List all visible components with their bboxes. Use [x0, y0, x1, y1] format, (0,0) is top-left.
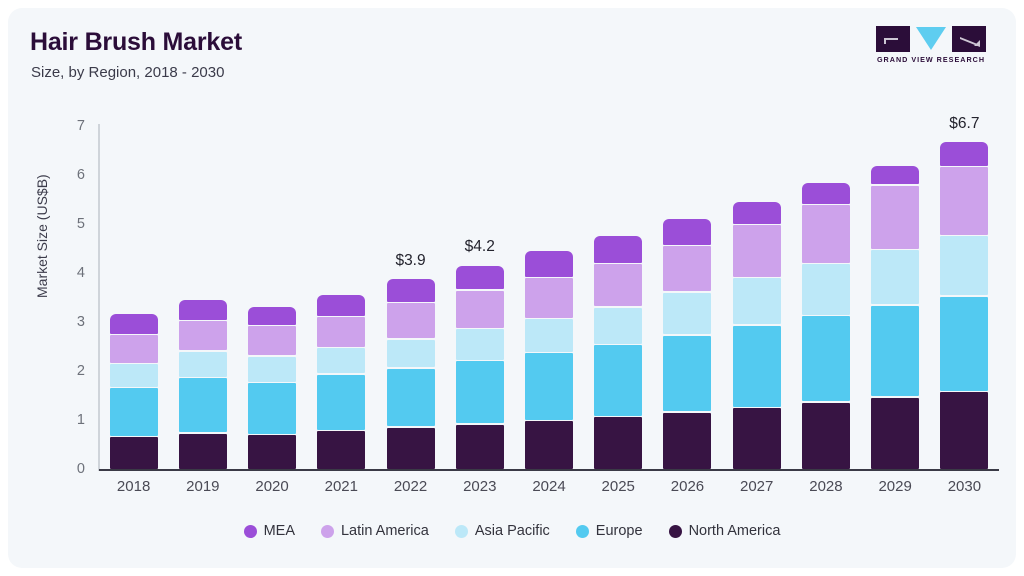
legend-item-label: MEA [264, 523, 295, 539]
bar-segment[interactable] [110, 437, 158, 469]
bar-segment[interactable] [248, 307, 296, 325]
chart-header: Hair Brush Market Size, by Region, 2018 … [8, 8, 1016, 104]
bar-value-label: $3.9 [395, 252, 425, 270]
legend-item-label: Latin America [341, 523, 429, 539]
chart-legend: MEALatin AmericaAsia PacificEuropeNorth … [8, 523, 1016, 539]
bar-segment[interactable] [733, 225, 781, 277]
legend-color-swatch [244, 525, 257, 538]
bar-segment[interactable] [387, 303, 435, 338]
gvr-logo-mark-icon [876, 26, 986, 52]
bar-group[interactable] [248, 126, 296, 469]
bar-segment[interactable] [110, 335, 158, 362]
bar-segment[interactable] [110, 364, 158, 387]
bar-group[interactable] [802, 126, 850, 469]
bar-segment[interactable] [456, 361, 504, 423]
x-axis-tick: 2019 [186, 478, 219, 495]
bar-segment[interactable] [179, 321, 227, 350]
legend-item[interactable]: Europe [576, 523, 643, 539]
bar-segment[interactable] [456, 291, 504, 328]
bar-segment[interactable] [871, 186, 919, 249]
x-axis-line [99, 469, 999, 471]
bar-segment[interactable] [387, 369, 435, 427]
bar-segment[interactable] [871, 398, 919, 469]
bar-group[interactable] [179, 126, 227, 469]
bar-segment[interactable] [663, 219, 711, 244]
plot-area: 01234567 $3.9$4.2$6.7 [99, 126, 999, 469]
legend-color-swatch [321, 525, 334, 538]
bar-segment[interactable] [594, 417, 642, 469]
bar-segment[interactable] [733, 202, 781, 224]
bar-segment[interactable] [663, 293, 711, 335]
bar-segment[interactable] [317, 348, 365, 373]
legend-color-swatch [455, 525, 468, 538]
bar-segment[interactable] [248, 326, 296, 355]
bar-segment[interactable] [802, 403, 850, 469]
legend-item[interactable]: MEA [244, 523, 295, 539]
bar-group[interactable] [871, 126, 919, 469]
y-axis-tick: 7 [43, 118, 85, 134]
bar-segment[interactable] [317, 375, 365, 430]
x-axis-tick: 2027 [740, 478, 773, 495]
bar-segment[interactable] [663, 413, 711, 469]
bar-segment[interactable] [456, 329, 504, 359]
chart-card: Hair Brush Market Size, by Region, 2018 … [8, 8, 1016, 568]
bar-value-label: $6.7 [949, 115, 979, 133]
bar-group[interactable] [317, 126, 365, 469]
x-axis-tick: 2018 [117, 478, 150, 495]
bar-segment[interactable] [594, 308, 642, 344]
brand-logo-text: GRAND VIEW RESEARCH [876, 55, 986, 64]
bar-segment[interactable] [940, 167, 988, 235]
bar-segment[interactable] [871, 250, 919, 304]
brand-logo: GRAND VIEW RESEARCH [876, 26, 986, 72]
bar-segment[interactable] [940, 142, 988, 165]
y-axis-tick: 3 [43, 314, 85, 330]
legend-color-swatch [576, 525, 589, 538]
page-title: Hair Brush Market [30, 28, 242, 57]
y-axis-tick: 5 [43, 216, 85, 232]
bar-segment[interactable] [802, 183, 850, 204]
bar-group[interactable] [110, 126, 158, 469]
bar-value-label: $4.2 [465, 238, 495, 256]
y-axis-tick: 1 [43, 412, 85, 428]
bar-segment[interactable] [940, 297, 988, 391]
bar-segment[interactable] [248, 435, 296, 469]
bar-segment[interactable] [179, 300, 227, 320]
bar-segment[interactable] [387, 340, 435, 367]
bar-group[interactable] [733, 126, 781, 469]
legend-color-swatch [669, 525, 682, 538]
bar-segment[interactable] [387, 428, 435, 469]
x-axis-tick: 2022 [394, 478, 427, 495]
bar-segment[interactable] [456, 266, 504, 289]
bar-segment[interactable] [525, 319, 573, 352]
bar-segment[interactable] [525, 251, 573, 277]
legend-item[interactable]: Asia Pacific [455, 523, 550, 539]
x-axis-tick: 2030 [948, 478, 981, 495]
x-axis-tick: 2028 [809, 478, 842, 495]
x-axis-tick: 2024 [532, 478, 565, 495]
bar-group[interactable] [525, 126, 573, 469]
bar-group[interactable]: $6.7 [940, 126, 988, 469]
bar-segment[interactable] [456, 425, 504, 469]
bar-segment[interactable] [802, 264, 850, 314]
bar-segment[interactable] [387, 279, 435, 302]
bar-segment[interactable] [594, 264, 642, 306]
bar-segment[interactable] [110, 314, 158, 334]
bar-segment[interactable] [663, 246, 711, 291]
bar-segment[interactable] [594, 345, 642, 416]
x-axis-tick: 2029 [878, 478, 911, 495]
legend-item-label: Asia Pacific [475, 523, 550, 539]
bar-segment[interactable] [733, 408, 781, 469]
legend-item[interactable]: Latin America [321, 523, 429, 539]
bar-group[interactable]: $3.9 [387, 126, 435, 469]
bar-segment[interactable] [248, 357, 296, 382]
chart-subtitle: Size, by Region, 2018 - 2030 [31, 64, 224, 81]
legend-item-label: Europe [596, 523, 643, 539]
y-axis-tick: 2 [43, 363, 85, 379]
bar-segment[interactable] [733, 326, 781, 407]
bar-segment[interactable] [594, 236, 642, 263]
bar-group[interactable]: $4.2 [456, 126, 504, 469]
bar-segment[interactable] [525, 353, 573, 419]
bar-segment[interactable] [317, 295, 365, 316]
y-axis-tick: 0 [43, 461, 85, 477]
x-axis-tick: 2026 [671, 478, 704, 495]
legend-item-label: North America [689, 523, 781, 539]
bar-segment[interactable] [871, 166, 919, 185]
bar-segment[interactable] [317, 431, 365, 469]
bar-segment[interactable] [248, 383, 296, 433]
bar-segment[interactable] [525, 421, 573, 469]
bar-segment[interactable] [733, 278, 781, 324]
x-axis-tick: 2025 [602, 478, 635, 495]
y-axis-tick: 6 [43, 167, 85, 183]
bar-segment[interactable] [802, 205, 850, 262]
y-axis-tick: 4 [43, 265, 85, 281]
bar-segment[interactable] [940, 392, 988, 469]
x-axis-tick: 2023 [463, 478, 496, 495]
x-axis-tick: 2021 [325, 478, 358, 495]
bar-segment[interactable] [871, 306, 919, 397]
bar-group[interactable] [663, 126, 711, 469]
bar-group[interactable] [594, 126, 642, 469]
x-axis-tick: 2020 [255, 478, 288, 495]
bar-segment[interactable] [110, 388, 158, 436]
legend-item[interactable]: North America [669, 523, 781, 539]
bar-segment[interactable] [179, 352, 227, 377]
bar-segment[interactable] [802, 316, 850, 401]
bar-segment[interactable] [940, 236, 988, 295]
bar-segment[interactable] [663, 336, 711, 411]
bar-segment[interactable] [179, 434, 227, 469]
bar-segment[interactable] [525, 278, 573, 317]
bar-segment[interactable] [179, 378, 227, 432]
bar-segment[interactable] [317, 317, 365, 346]
